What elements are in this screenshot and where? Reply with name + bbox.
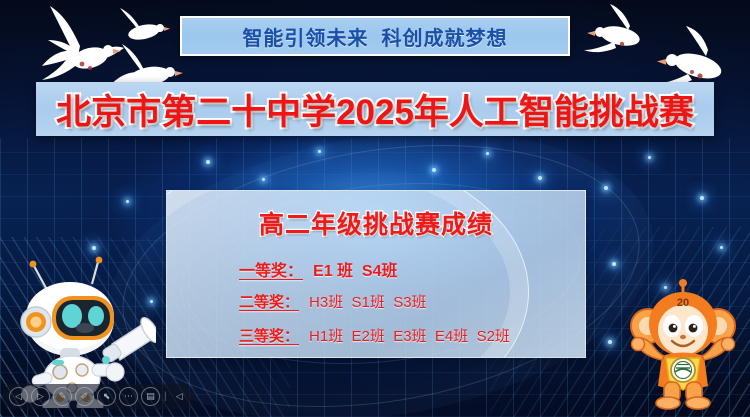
glow-node [432, 168, 436, 172]
glow-node [262, 178, 265, 181]
pen-tool-button[interactable]: ✎ [53, 387, 72, 406]
glow-node [604, 186, 608, 190]
award-row-first-prize: 一等奖： E1 班 S4班 [239, 257, 398, 281]
presentation-toolbar[interactable]: ◁ ▷ ✎ ✐ ⬉ ⋯ ▤ | ◁ [2, 384, 195, 409]
more-options-button[interactable]: ⋯ [119, 387, 138, 406]
highlighter-button[interactable]: ✐ [75, 387, 94, 406]
award-classes: H3班 S1班 S3班 [309, 291, 427, 312]
subtitle-banner: 智能引领未来 科创成就梦想 [180, 16, 570, 56]
next-slide-button[interactable]: ▷ [31, 387, 50, 406]
panel-heading: 高二年级挑战赛成绩 [167, 205, 585, 241]
award-classes: E1 班 S4班 [313, 257, 397, 281]
glow-node [648, 156, 651, 159]
toolbar-separator: | [163, 391, 168, 402]
dove-top-center [114, 6, 174, 50]
previous-slide-button[interactable]: ◁ [9, 387, 28, 406]
pointer-button[interactable]: ⬉ [97, 387, 116, 406]
title-band: 北京市第二十中学2025年人工智能挑战赛 [36, 82, 714, 136]
award-label: 三等奖： [239, 325, 299, 346]
glow-node [126, 200, 129, 203]
award-classes: H1班 E2班 E3班 E4班 S2班 [309, 325, 510, 346]
glow-node [612, 262, 616, 266]
glow-node [318, 150, 321, 153]
award-label: 二等奖： [239, 291, 299, 312]
mascot-badge-number: 20 [677, 297, 689, 309]
glow-node [206, 160, 210, 164]
exit-presentation-button[interactable]: ◁ [171, 388, 188, 405]
glow-node [538, 176, 542, 180]
presenter-view-button[interactable]: ▤ [141, 387, 160, 406]
award-row-second-prize: 二等奖： H3班 S1班 S3班 [239, 291, 427, 312]
page-title: 北京市第二十中学2025年人工智能挑战赛 [56, 84, 694, 135]
award-row-third-prize: 三等奖： H1班 E2班 E3班 E4班 S2班 [239, 325, 510, 346]
glow-node [486, 152, 489, 155]
glow-node [608, 340, 612, 344]
presentation-slide: 智能引领未来 科创成就梦想 北京市第二十中学2025年人工智能挑战赛 高二年级挑… [0, 0, 750, 417]
results-panel: 高二年级挑战赛成绩 一等奖： E1 班 S4班 二等奖： H3班 S1班 S3班… [166, 190, 586, 358]
award-label: 一等奖： [239, 257, 303, 281]
school-mascot: 20 [628, 278, 738, 415]
glow-node [720, 246, 723, 249]
subtitle-text: 智能引领未来 科创成就梦想 [242, 22, 507, 51]
glow-node [700, 196, 704, 200]
